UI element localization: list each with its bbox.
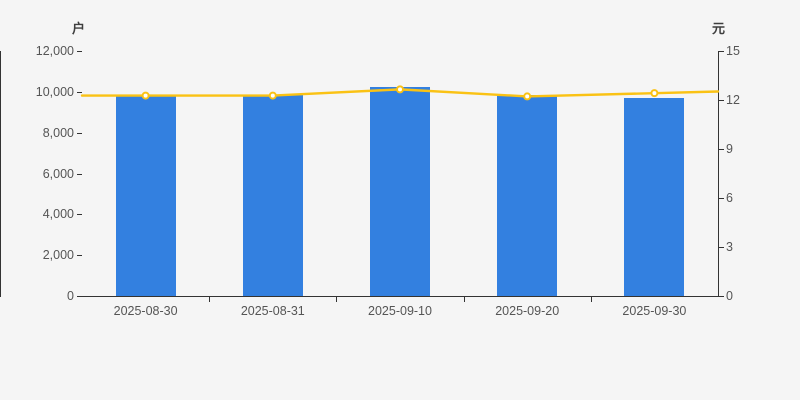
left-tick-mark <box>77 296 82 297</box>
left-tick-label: 2,000 <box>43 249 74 262</box>
x-tick-mark <box>464 297 465 302</box>
x-axis-category-label: 2025-09-20 <box>495 304 559 318</box>
right-tick-label: 12 <box>726 94 740 107</box>
bar[interactable] <box>116 95 176 296</box>
right-axis-unit-label: 元 <box>712 18 726 37</box>
x-axis-category-label: 2025-09-10 <box>368 304 432 318</box>
right-tick-label: 15 <box>726 45 740 58</box>
right-tick-mark <box>719 51 724 52</box>
right-tick-mark <box>719 149 724 150</box>
x-axis-category-label: 2025-08-30 <box>114 304 178 318</box>
left-axis-unit-label: 户 <box>72 18 86 37</box>
left-y-axis-line <box>0 51 1 297</box>
x-tick-mark <box>336 297 337 302</box>
right-tick-label: 3 <box>726 241 733 254</box>
right-tick-mark <box>719 100 724 101</box>
x-axis-category-label: 2025-09-30 <box>622 304 686 318</box>
right-tick-label: 6 <box>726 192 733 205</box>
right-tick-mark <box>719 247 724 248</box>
left-tick-label: 8,000 <box>43 126 74 139</box>
bar-series <box>82 51 719 296</box>
left-tick-label: 12,000 <box>36 45 74 58</box>
left-tick-label: 10,000 <box>36 86 74 99</box>
left-tick-label: 4,000 <box>43 208 74 221</box>
x-axis-category-label: 2025-08-31 <box>241 304 305 318</box>
x-axis-line <box>82 296 719 297</box>
bar[interactable] <box>624 98 684 296</box>
bar[interactable] <box>243 95 303 296</box>
left-tick-label: 6,000 <box>43 167 74 180</box>
right-tick-label: 9 <box>726 143 733 156</box>
x-tick-mark <box>591 297 592 302</box>
right-tick-label: 0 <box>726 290 733 303</box>
left-tick-label: 0 <box>67 290 74 303</box>
chart-container: 户 元 02,0004,0006,0008,00010,00012,000 03… <box>0 0 800 400</box>
right-tick-mark <box>719 296 724 297</box>
x-tick-mark <box>209 297 210 302</box>
bar[interactable] <box>370 87 430 296</box>
bar[interactable] <box>497 95 557 296</box>
right-tick-mark <box>719 198 724 199</box>
